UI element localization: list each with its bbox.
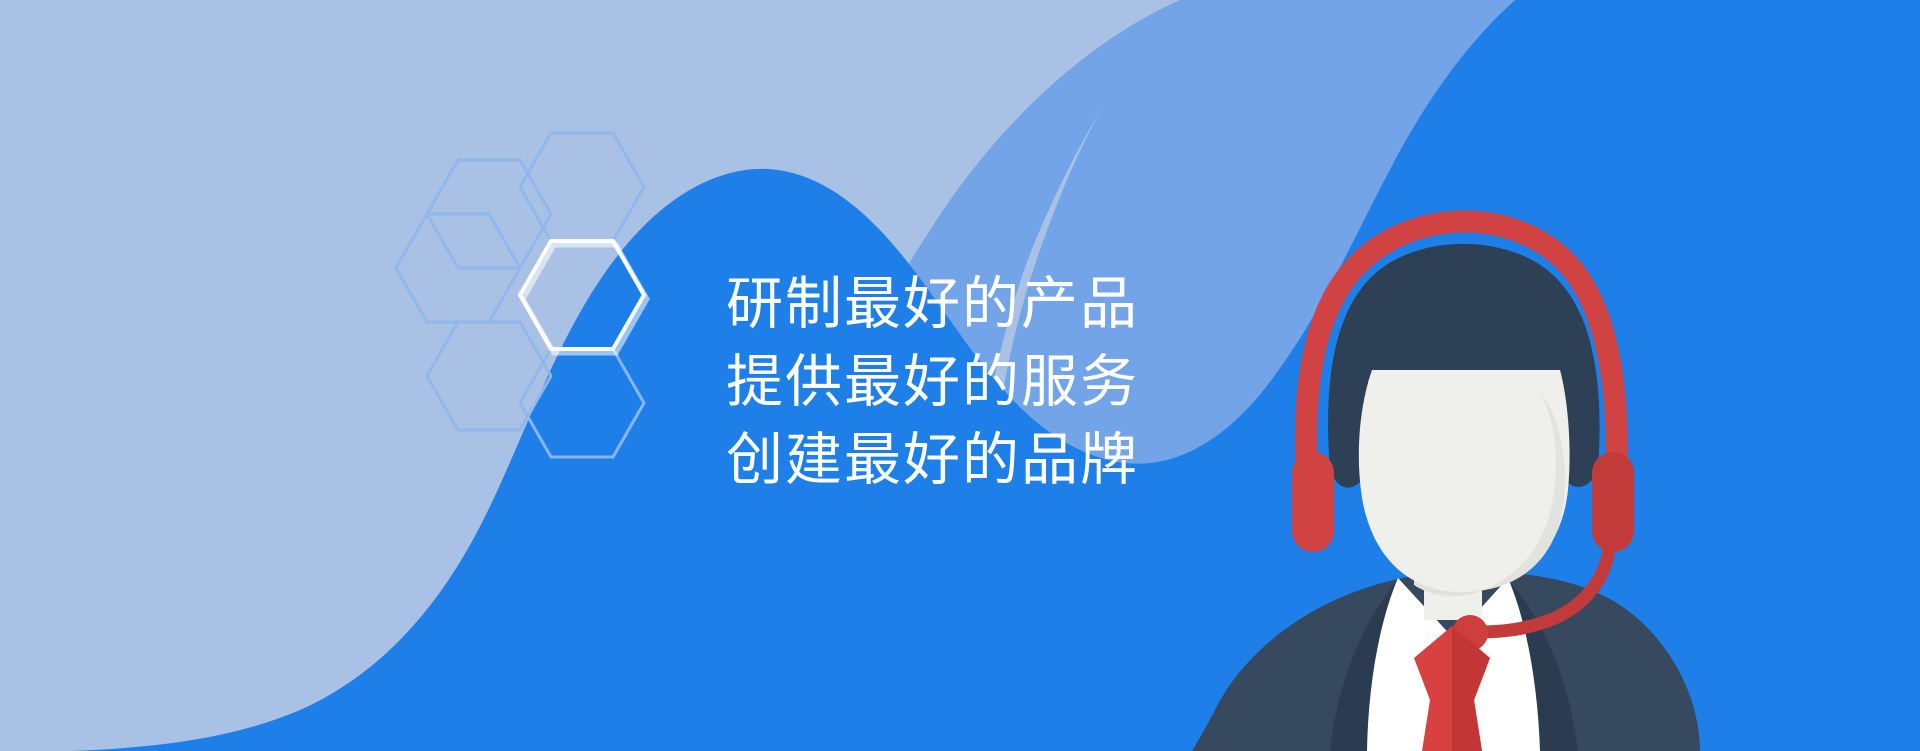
headline-line-2: 提供最好的服务 — [726, 343, 1346, 421]
promo-banner: 研制最好的产品 提供最好的服务 创建最好的品牌 — [0, 0, 1920, 751]
headline-block: 研制最好的产品 提供最好的服务 创建最好的品牌 — [726, 265, 1346, 499]
headline-line-1: 研制最好的产品 — [726, 265, 1346, 343]
headline-line-3: 创建最好的品牌 — [726, 421, 1346, 499]
